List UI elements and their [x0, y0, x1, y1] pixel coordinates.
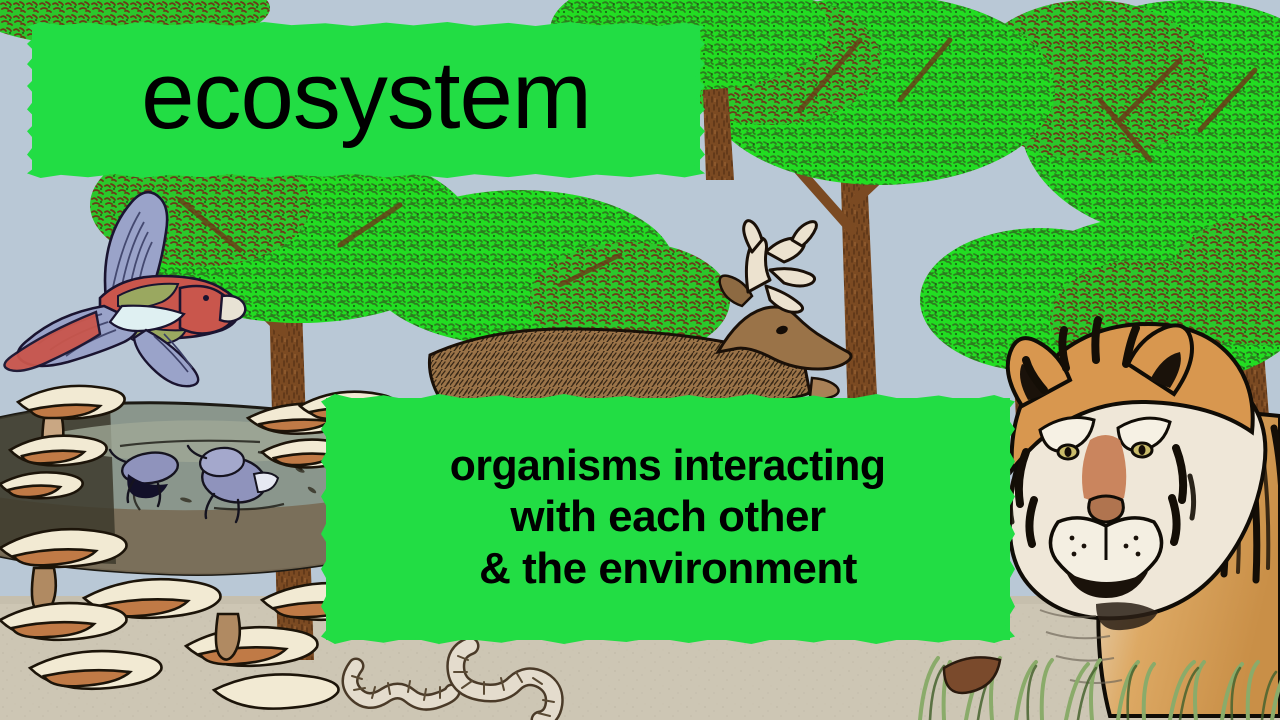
definition-line-3: & the environment: [479, 543, 857, 594]
title-banner: ecosystem: [32, 26, 700, 174]
definition-banner: organisms interacting with each other & …: [326, 398, 1010, 640]
definition-line-1: organisms interacting: [450, 440, 886, 491]
page-title: ecosystem: [141, 48, 591, 152]
definition-line-2: with each other: [510, 491, 825, 542]
slide-canvas: ecosystem organisms interacting with eac…: [0, 0, 1280, 720]
